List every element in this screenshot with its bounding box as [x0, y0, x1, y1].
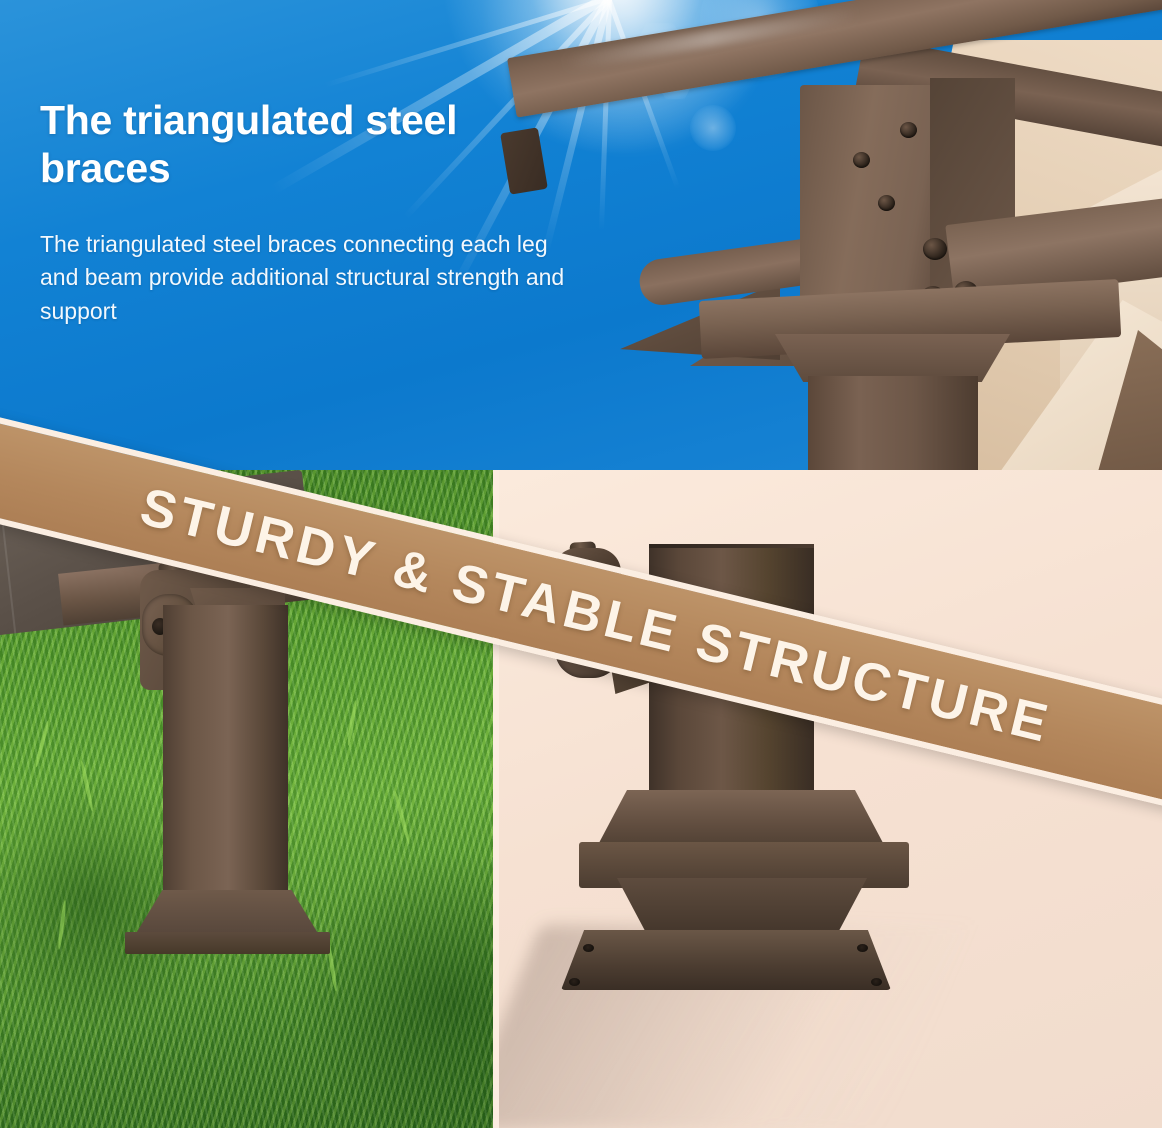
pre-drilled-hole	[569, 978, 580, 986]
grass-blade	[393, 790, 411, 844]
pre-drilled-hole	[857, 944, 868, 952]
grass-blade	[34, 720, 49, 768]
pergola-post	[808, 376, 978, 470]
bolt-icon	[853, 152, 870, 168]
page-title: The triangulated steel braces	[40, 97, 520, 192]
bolt-icon	[923, 238, 947, 260]
pergola-post	[163, 605, 288, 910]
lens-flare	[690, 105, 736, 151]
grass-shading	[300, 850, 493, 1128]
top-photo-panel: The triangulated steel braces The triang…	[0, 0, 1162, 470]
post-base-plate	[125, 932, 330, 954]
bolt-icon	[878, 195, 895, 211]
pre-drilled-hole	[583, 944, 594, 952]
post-cap-taper	[775, 334, 1010, 382]
grass-blade	[346, 700, 357, 746]
pre-drilled-hole	[871, 978, 882, 986]
rectangular-anchoring-plate	[561, 930, 891, 990]
product-infographic: The triangulated steel braces The triang…	[0, 0, 1162, 1128]
page-subtitle: The triangulated steel braces connecting…	[40, 228, 570, 328]
bolt-icon	[900, 122, 917, 138]
